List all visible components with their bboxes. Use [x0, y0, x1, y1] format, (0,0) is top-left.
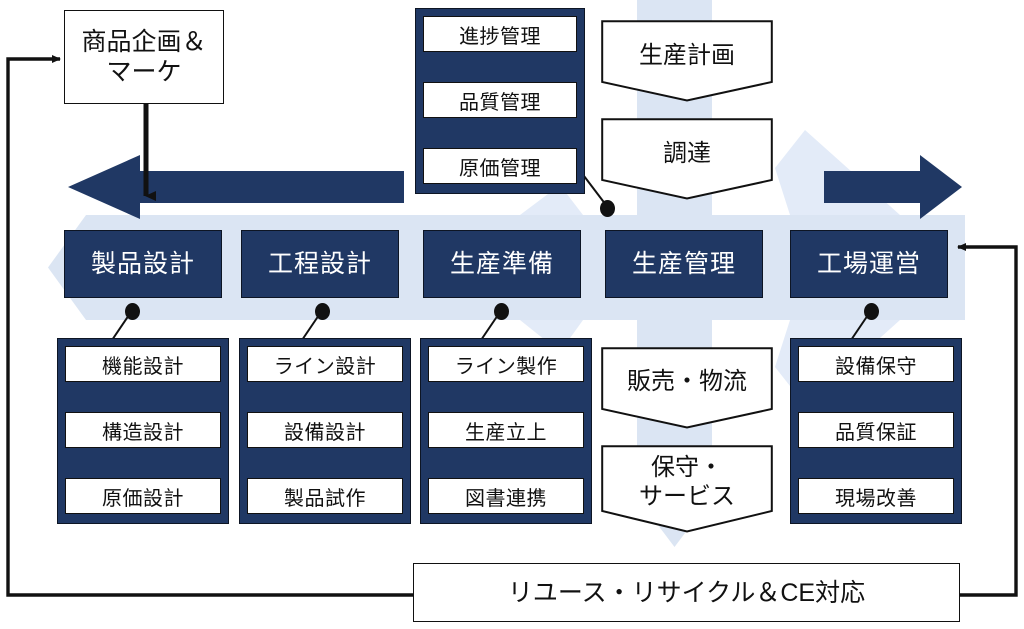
management-item-2[interactable]: 原価管理: [423, 148, 577, 184]
reuse-recycle-bar[interactable]: リユース・リサイクル＆CE対応: [413, 563, 960, 622]
dot-production-management: [600, 200, 615, 217]
detail-item-2-0[interactable]: ライン製作: [428, 346, 584, 382]
detail-item-2-2[interactable]: 図書連携: [428, 478, 584, 514]
production-plan-chevron[interactable]: 生産計画: [601, 20, 773, 102]
detail-item-0-0[interactable]: 機能設計: [65, 346, 221, 382]
detail-item-1-2[interactable]: 製品試作: [247, 478, 403, 514]
stage-factory-operations[interactable]: 工場運営: [790, 230, 948, 298]
stage-process-design-label: 工程設計: [268, 250, 372, 279]
detail-item-1-1[interactable]: 設備設計: [247, 412, 403, 448]
detail-item-2-1[interactable]: 生産立上: [428, 412, 584, 448]
product-planning-label-line1: 商品企画＆: [81, 27, 206, 57]
product-planning-label-line2: マーケ: [106, 57, 181, 87]
product-planning-box[interactable]: 商品企画＆ マーケ: [64, 10, 224, 104]
stage-production-preparation[interactable]: 生産準備: [423, 230, 581, 298]
diagram-canvas: 商品企画＆ マーケ 進捗管理 品質管理 原価管理 生産計画 調達 製品設計 工程…: [0, 0, 1024, 629]
stage-factory-operations-label: 工場運営: [817, 250, 921, 279]
dot-process-design: [315, 303, 330, 320]
dot-product-design: [125, 303, 140, 320]
maintenance-service-chevron[interactable]: 保守・ サービス: [601, 445, 773, 533]
stage-process-design[interactable]: 工程設計: [241, 230, 399, 298]
stage-product-design[interactable]: 製品設計: [64, 230, 222, 298]
maintenance-service-label-group: 保守・ サービス: [601, 445, 773, 512]
stage-production-preparation-label: 生産準備: [450, 250, 554, 279]
detail-item-1-0[interactable]: ライン設計: [247, 346, 403, 382]
sales-logistics-label: 販売・物流: [601, 347, 773, 396]
management-item-0[interactable]: 進捗管理: [423, 16, 577, 52]
detail-item-3-0[interactable]: 設備保守: [798, 346, 954, 382]
production-plan-label: 生産計画: [601, 20, 773, 70]
management-item-1[interactable]: 品質管理: [423, 82, 577, 118]
maintenance-service-label-line1: 保守・: [601, 453, 773, 482]
procurement-label: 調達: [601, 118, 773, 168]
detail-group-product-design[interactable]: 機能設計 構造設計 原価設計: [57, 338, 229, 524]
dot-production-preparation: [494, 303, 509, 320]
detail-item-3-1[interactable]: 品質保証: [798, 412, 954, 448]
procurement-chevron[interactable]: 調達: [601, 118, 773, 200]
detail-group-production-preparation[interactable]: ライン製作 生産立上 図書連携: [420, 338, 592, 524]
maintenance-service-label-line2: サービス: [601, 482, 773, 511]
left-arrow-navy: [68, 155, 404, 219]
detail-item-0-2[interactable]: 原価設計: [65, 478, 221, 514]
stage-production-management[interactable]: 生産管理: [605, 230, 763, 298]
reuse-recycle-label: リユース・リサイクル＆CE対応: [508, 578, 865, 608]
detail-item-3-2[interactable]: 現場改善: [798, 478, 954, 514]
flow-band-wing-upper-right: [775, 130, 900, 215]
feedback-line-right: [958, 247, 1016, 595]
sales-logistics-chevron[interactable]: 販売・物流: [601, 347, 773, 429]
stage-production-management-label: 生産管理: [632, 250, 736, 279]
management-panel[interactable]: 進捗管理 品質管理 原価管理: [415, 8, 585, 194]
right-arrow-navy: [824, 155, 962, 219]
detail-group-factory-operations[interactable]: 設備保守 品質保証 現場改善: [790, 338, 962, 524]
detail-item-0-1[interactable]: 構造設計: [65, 412, 221, 448]
stage-product-design-label: 製品設計: [91, 250, 195, 279]
detail-group-process-design[interactable]: ライン設計 設備設計 製品試作: [239, 338, 411, 524]
dot-factory-operations: [864, 303, 879, 320]
